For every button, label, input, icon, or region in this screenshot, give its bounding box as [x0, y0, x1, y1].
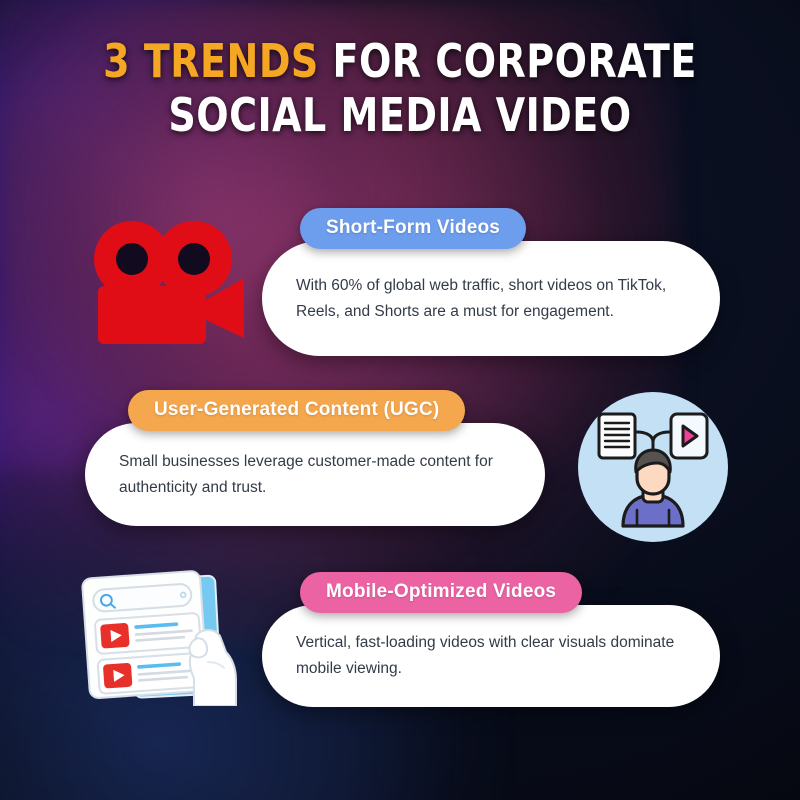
trend-body-2: Small businesses leverage customer-made …: [85, 449, 545, 501]
trend-badge-3[interactable]: Mobile-Optimized Videos: [300, 572, 582, 613]
infographic-canvas: 3 TRENDS FOR CORPORATE SOCIAL MEDIA VIDE…: [0, 0, 800, 800]
trend-card-3: Vertical, fast-loading videos with clear…: [262, 605, 720, 707]
hand-holding-phone-video-list-icon: [74, 566, 264, 706]
page-title: 3 TRENDS FOR CORPORATE SOCIAL MEDIA VIDE…: [0, 34, 800, 142]
trend-badge-1[interactable]: Short-Form Videos: [300, 208, 526, 249]
trend-body-3: Vertical, fast-loading videos with clear…: [262, 630, 720, 682]
user-generated-content-icon: [575, 392, 731, 542]
title-rest-text: FOR CORPORATE: [319, 34, 697, 88]
title-line-1: 3 TRENDS FOR CORPORATE: [32, 34, 768, 88]
trend-body-1: With 60% of global web traffic, short vi…: [262, 273, 720, 325]
title-line-2: SOCIAL MEDIA VIDEO: [32, 88, 768, 142]
trend-card-1: With 60% of global web traffic, short vi…: [262, 241, 720, 356]
movie-camera-icon: [86, 214, 246, 344]
trend-card-2: Small businesses leverage customer-made …: [85, 423, 545, 526]
title-accent-text: 3 TRENDS: [103, 34, 319, 88]
trend-badge-2[interactable]: User-Generated Content (UGC): [128, 390, 465, 431]
